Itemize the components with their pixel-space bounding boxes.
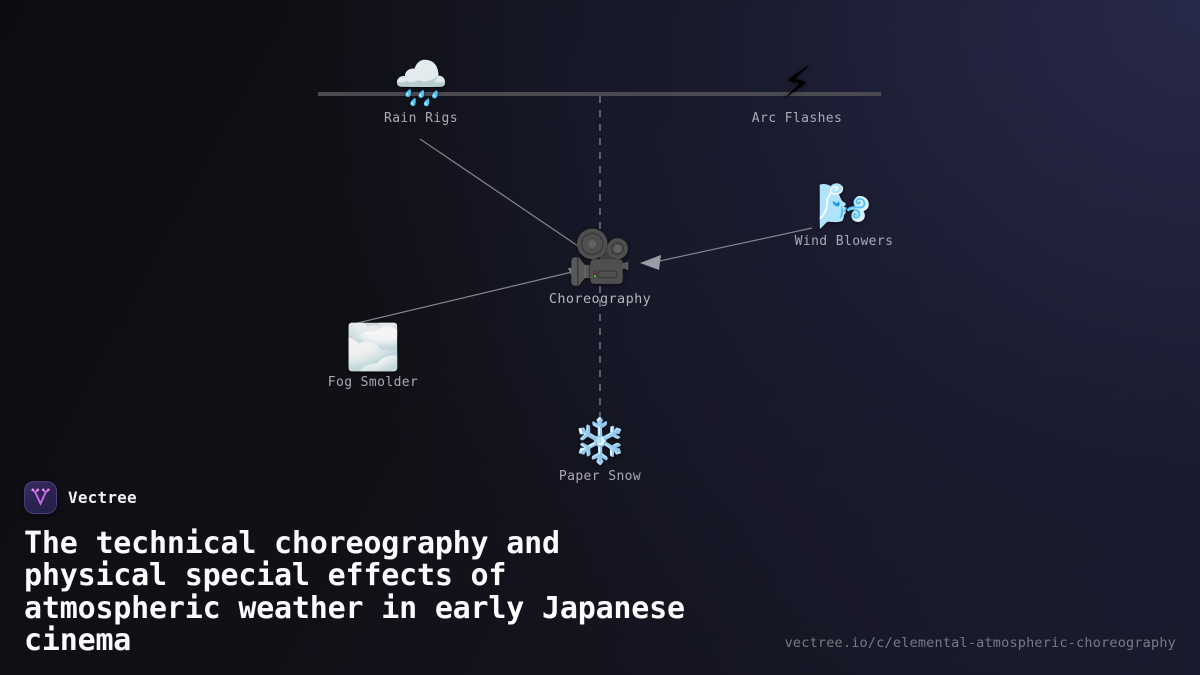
graph-node-label: Choreography <box>525 291 675 307</box>
graph-node-arc-flashes[interactable]: ⚡ Arc Flashes <box>722 62 872 126</box>
movie-camera-icon: 🎥 <box>525 232 675 284</box>
high-voltage-icon: ⚡ <box>722 62 872 106</box>
brand[interactable]: Vectree <box>24 481 1176 514</box>
page-title: The technical choreography and physical … <box>24 528 704 657</box>
edge-rain-rigs-choreography <box>420 139 578 246</box>
graph-node-label: Arc Flashes <box>722 111 872 126</box>
share-card: 🎥 Choreography 🌧️ Rain Rigs ⚡ Arc Flashe… <box>0 0 1200 675</box>
snowflake-icon: ❄️ <box>525 420 675 464</box>
wind-face-icon: 🌬️ <box>769 185 919 229</box>
graph-node-label: Rain Rigs <box>346 111 496 126</box>
graph-node-wind-blowers[interactable]: 🌬️ Wind Blowers <box>769 185 919 249</box>
graph-node-label: Fog Smolder <box>298 375 448 390</box>
rain-cloud-icon: 🌧️ <box>346 62 496 106</box>
graph-node-rain-rigs[interactable]: 🌧️ Rain Rigs <box>346 62 496 126</box>
graph-node-label: Wind Blowers <box>769 234 919 249</box>
graph-node-fog-smolder[interactable]: 🌫️ Fog Smolder <box>298 326 448 390</box>
graph-node-paper-snow[interactable]: ❄️ Paper Snow <box>525 420 675 484</box>
card-footer: Vectree The technical choreography and p… <box>0 481 1200 675</box>
brand-name: Vectree <box>68 488 137 507</box>
vectree-logo-icon <box>24 481 57 514</box>
graph-node-choreography[interactable]: 🎥 Choreography <box>525 232 675 307</box>
fog-icon: 🌫️ <box>298 326 448 370</box>
